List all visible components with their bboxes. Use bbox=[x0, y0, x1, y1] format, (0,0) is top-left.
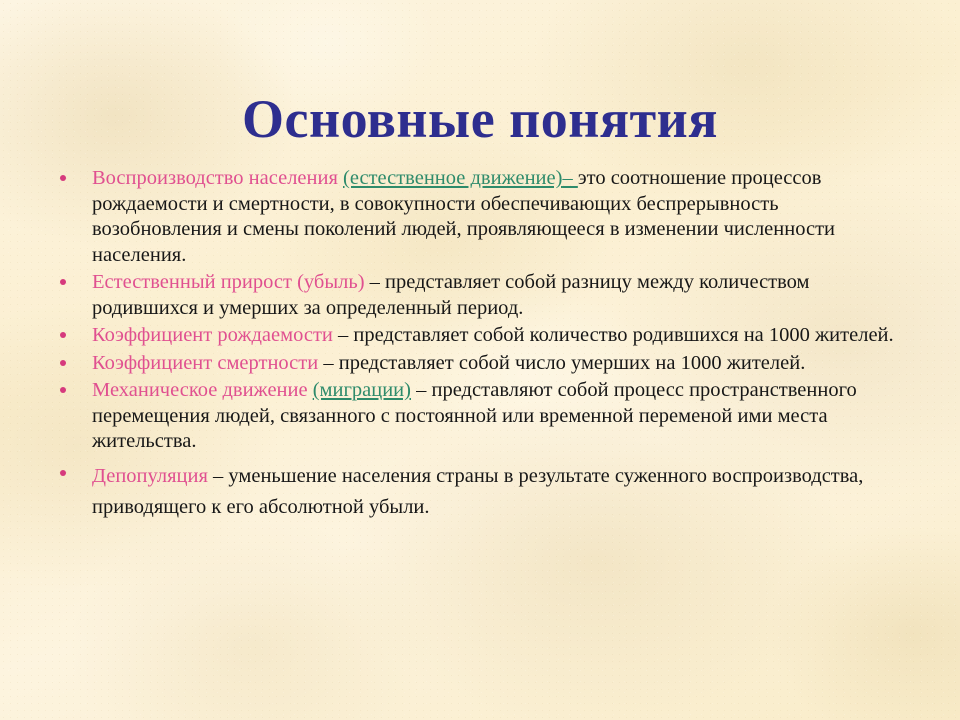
list-item: Воспроизводство населения (естественное … bbox=[56, 166, 912, 268]
bullet-dot-icon bbox=[60, 387, 66, 393]
list-item-body: – представляет собой количество родивших… bbox=[333, 324, 894, 346]
list-item-term: Коэффициент рождаемости bbox=[92, 324, 333, 346]
list-item-term: Естественный прирост (убыль) bbox=[92, 271, 365, 293]
list-item-body: – уменьшение населения страны в результа… bbox=[92, 465, 863, 518]
list-item: Коэффициент рождаемости – представляет с… bbox=[56, 323, 912, 349]
bullet-dot-icon bbox=[60, 279, 66, 285]
list-item-term: Механическое движение bbox=[92, 379, 313, 401]
list-item-term: Коэффициент смертности bbox=[92, 352, 318, 374]
list-item: Коэффициент смертности – представляет со… bbox=[56, 351, 912, 377]
list-item-link[interactable]: (естественное движение) bbox=[343, 167, 562, 189]
list-item: Механическое движение (миграции) – предс… bbox=[56, 378, 912, 455]
bullet-dot-icon bbox=[60, 360, 66, 366]
list-item: Депопуляция – уменьшение населения стран… bbox=[56, 461, 912, 523]
bullet-dot-icon bbox=[60, 175, 66, 181]
list-item-body: – представляет собой число умерших на 10… bbox=[318, 352, 805, 374]
list-item-term: Депопуляция bbox=[92, 465, 208, 487]
bullet-dot-icon bbox=[60, 332, 66, 338]
page-title: Основные понятия bbox=[0, 88, 960, 150]
slide-canvas: Основные понятия Воспроизводство населен… bbox=[0, 0, 960, 720]
list-item-link[interactable]: (миграции) bbox=[313, 379, 411, 401]
list-item-term: Воспроизводство населения bbox=[92, 167, 343, 189]
list-item: Естественный прирост (убыль) – представл… bbox=[56, 270, 912, 321]
list-item-link-dash: – bbox=[562, 167, 577, 189]
bullet-dot-icon bbox=[60, 470, 66, 476]
bullet-list: Воспроизводство населения (естественное … bbox=[56, 166, 912, 525]
